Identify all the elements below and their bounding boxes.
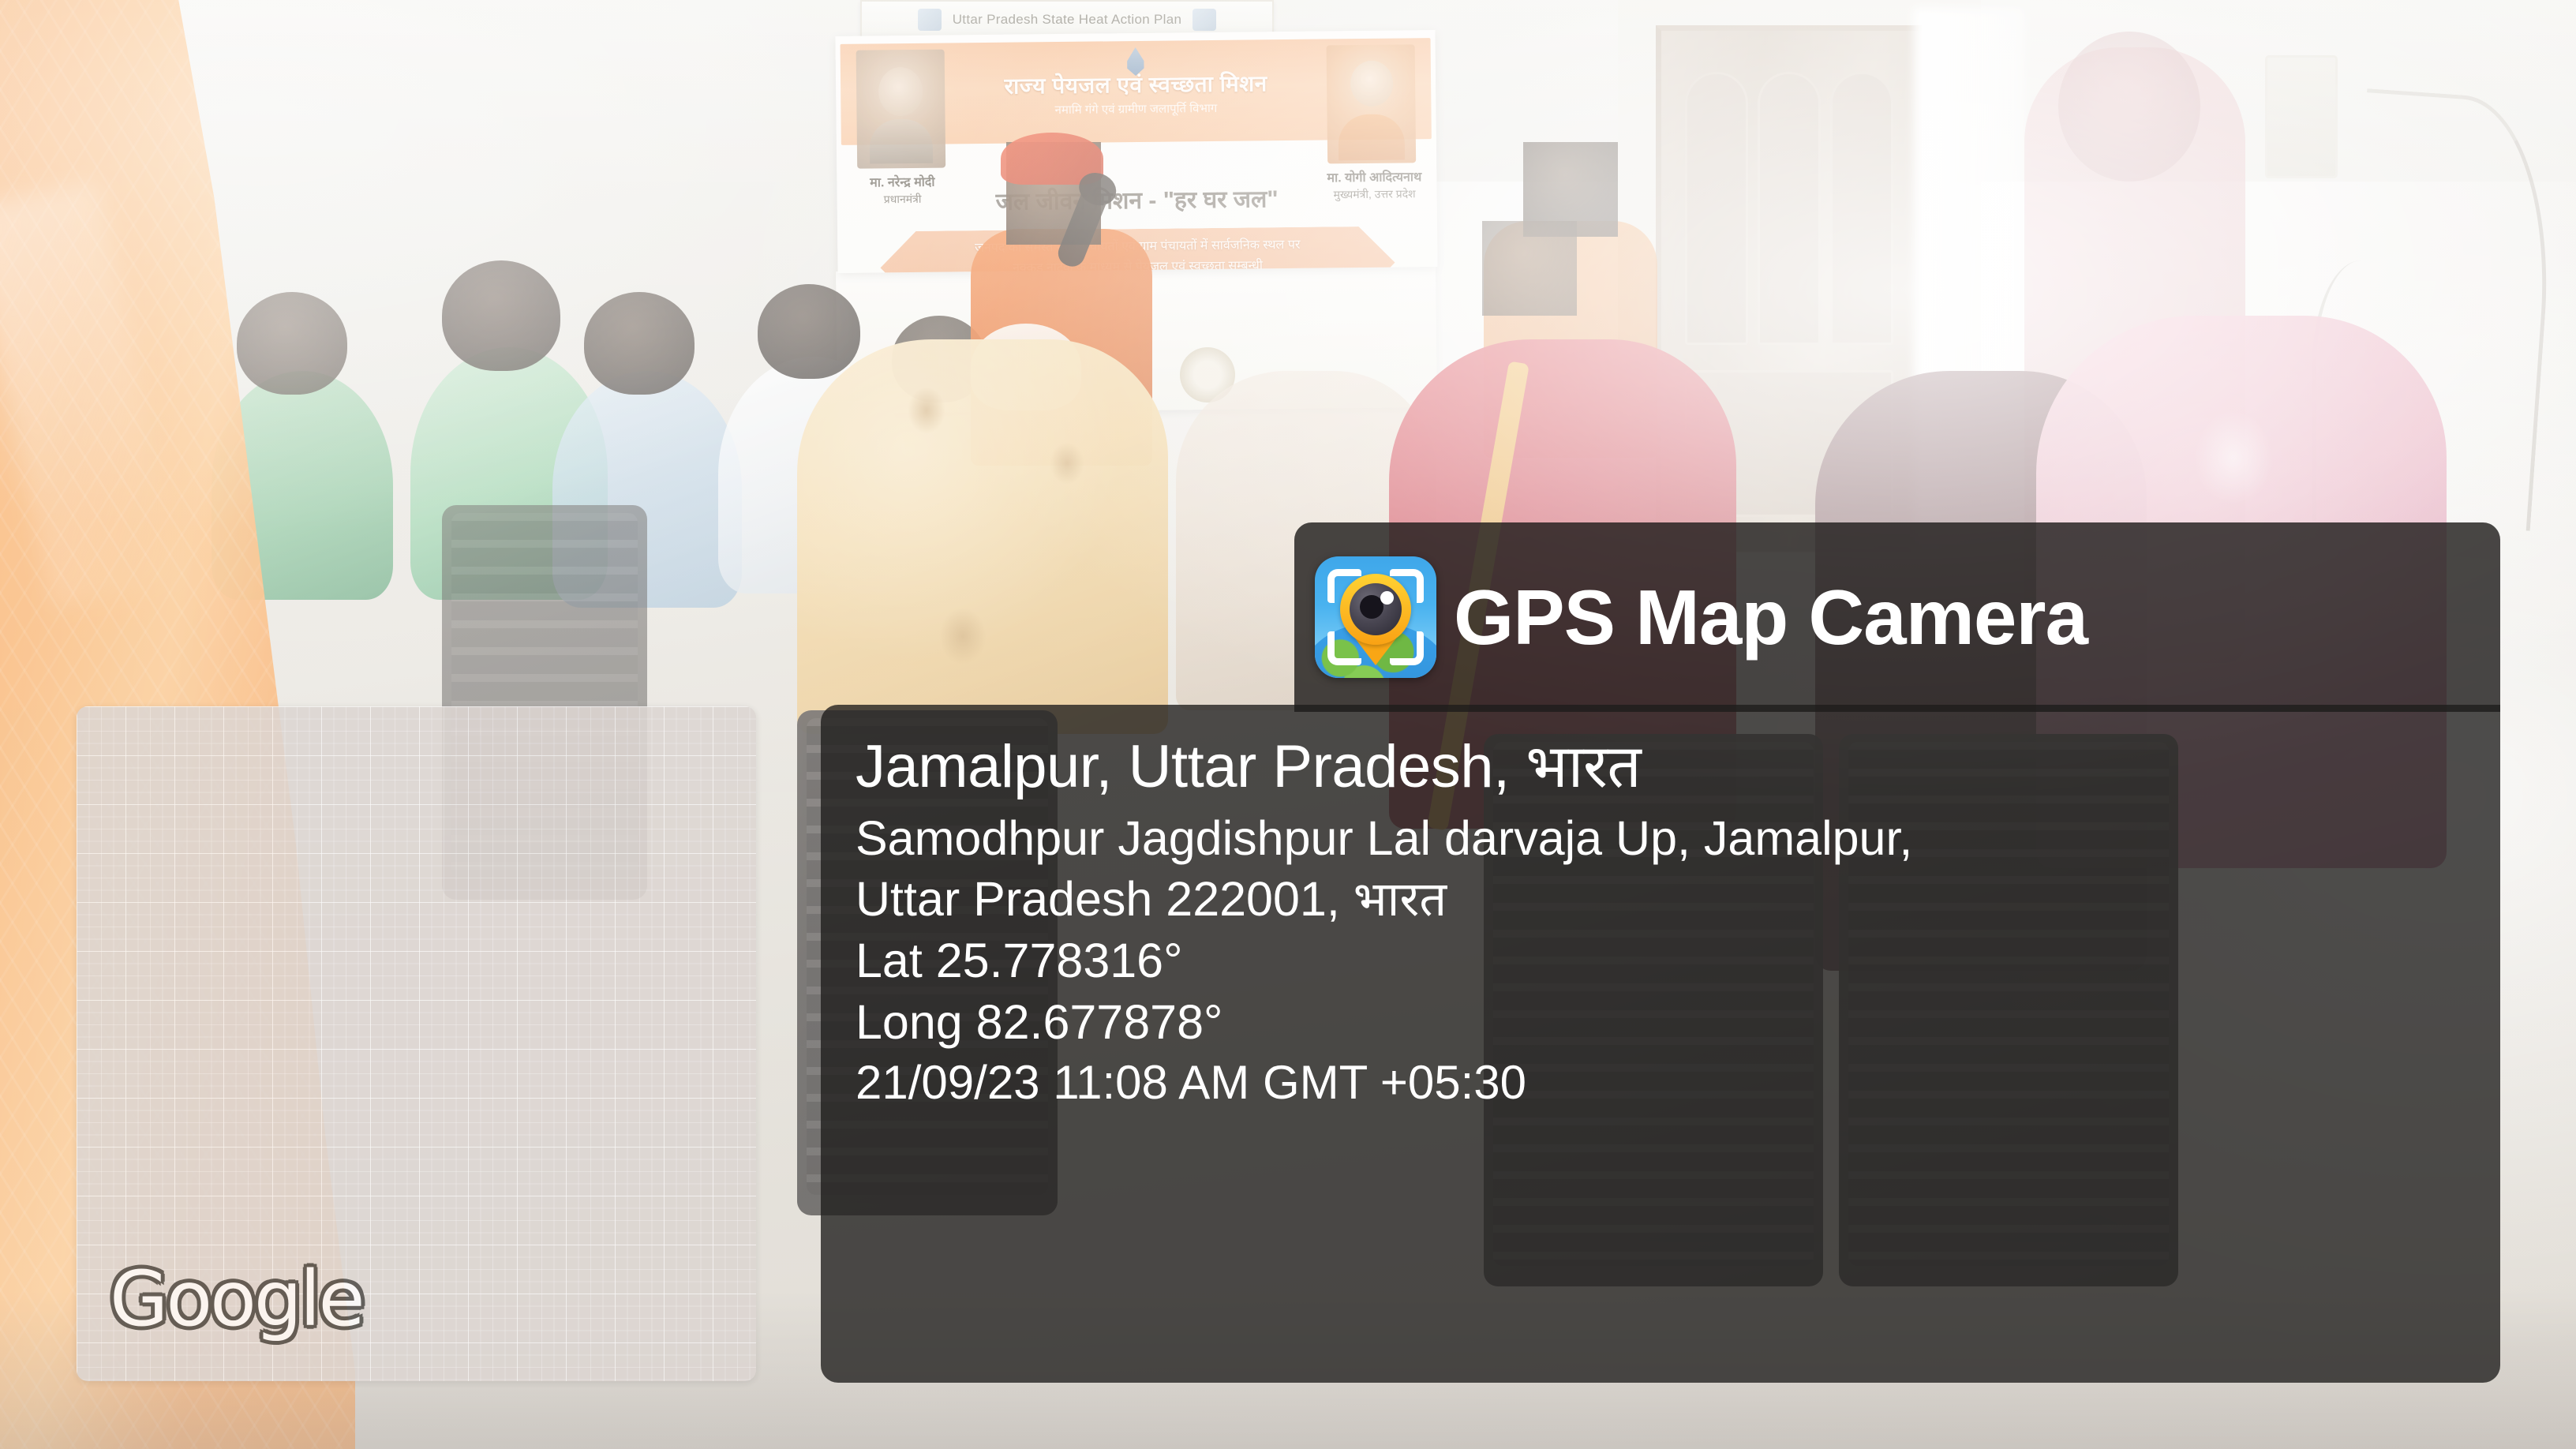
gps-stamp-info-panel: Jamalpur, Uttar Pradesh, भारत Samodhpur … <box>821 705 2500 1383</box>
front-woman-cream <box>797 339 1168 734</box>
latitude-value: Lat 25.778316° <box>856 930 2469 991</box>
banner-heading: राज्य पेयजल एवं स्वच्छता मिशन <box>836 66 1436 103</box>
gps-map-camera-photo: Uttar Pradesh State Heat Action Plan राज… <box>0 0 2576 1449</box>
google-watermark: Google <box>110 1255 363 1343</box>
location-city-line: Jamalpur, Uttar Pradesh, भारत <box>856 733 2469 800</box>
standing-woman-head <box>2058 32 2200 182</box>
timestamp-value: 21/09/23 11:08 AM GMT +05:30 <box>856 1053 2469 1114</box>
viewfinder-corner-icon <box>1327 569 1361 603</box>
banner-mission-slogan: जल जीवन मिशन - "हर घर जल" <box>837 180 1436 219</box>
event-banner: राज्य पेयजल एवं स्वच्छता मिशन नमामि गंगे… <box>835 30 1437 273</box>
emblem-icon <box>918 9 942 31</box>
google-map-thumbnail[interactable]: Google <box>77 706 756 1381</box>
strip-text: Uttar Pradesh State Heat Action Plan <box>953 12 1182 28</box>
audience-head <box>442 260 560 371</box>
location-address-line-1: Samodhpur Jagdishpur Lal darvaja Up, Jam… <box>856 808 2469 869</box>
viewfinder-corner-icon <box>1390 631 1424 665</box>
viewfinder-corner-icon <box>1390 569 1424 603</box>
audience-head <box>584 292 695 395</box>
saree-motif <box>939 608 987 665</box>
viewfinder-corner-icon <box>1327 631 1361 665</box>
wall-switchboard <box>2265 55 2338 178</box>
longitude-value: Long 82.677878° <box>856 991 2469 1053</box>
attendee-head <box>1482 221 1577 316</box>
door-panel <box>1830 72 1893 345</box>
gps-map-camera-icon <box>1315 556 1436 678</box>
audience-head <box>758 284 860 379</box>
saree-motif <box>2194 410 2273 505</box>
location-address-line-2: Uttar Pradesh 222001, भारत <box>856 869 2469 930</box>
saree-motif <box>908 387 945 434</box>
app-title: GPS Map Camera <box>1454 578 2087 656</box>
jal-jeevan-icon <box>1193 9 1216 31</box>
door-panel <box>1685 72 1748 345</box>
saree-motif <box>1050 442 1084 485</box>
gps-stamp-header: GPS Map Camera <box>1294 522 2500 712</box>
audience-head <box>237 292 347 395</box>
door-panel <box>1758 72 1821 345</box>
